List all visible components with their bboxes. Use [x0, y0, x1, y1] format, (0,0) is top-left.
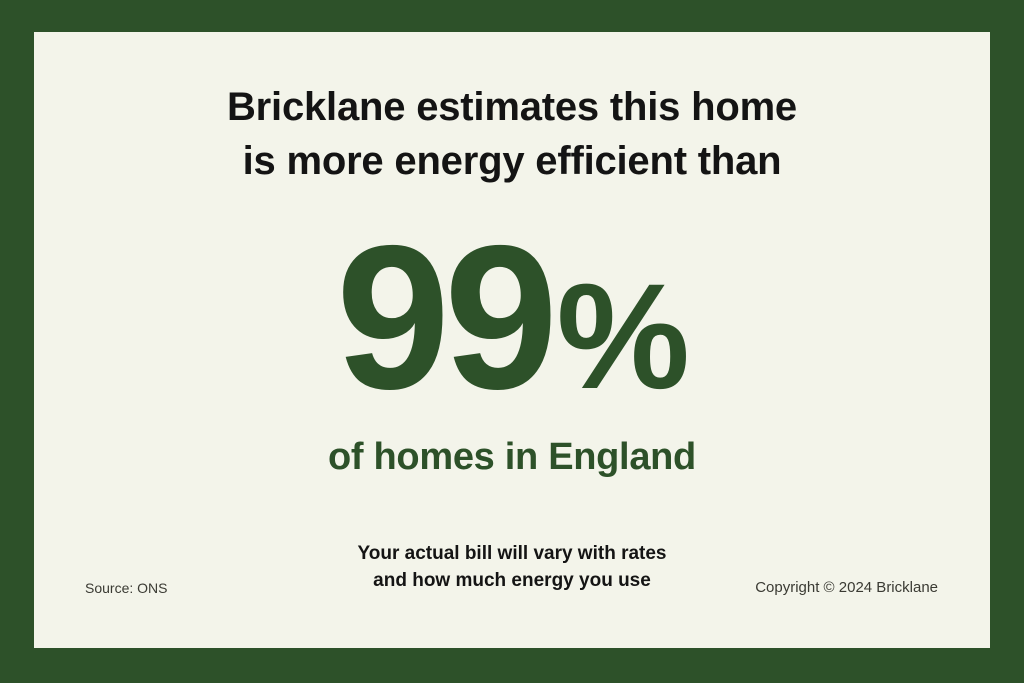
footer-copyright: Copyright © 2024 Bricklane: [755, 579, 938, 596]
disclaimer-line-1: Your actual bill will vary with rates: [34, 540, 990, 567]
card-panel: Bricklane estimates this home is more en…: [34, 32, 990, 648]
footer-source: Source: ONS: [85, 580, 167, 596]
headline-line-1: Bricklane estimates this home: [34, 80, 990, 134]
stat-subcaption: of homes in England: [34, 436, 990, 479]
card-frame: Bricklane estimates this home is more en…: [0, 0, 1024, 683]
stat-block: 99 %: [34, 228, 990, 426]
stat-unit-percent: %: [557, 246, 688, 426]
stat-value: 99: [336, 228, 552, 408]
headline-line-2: is more energy efficient than: [34, 134, 990, 188]
page-title: Bricklane estimates this home is more en…: [34, 80, 990, 188]
